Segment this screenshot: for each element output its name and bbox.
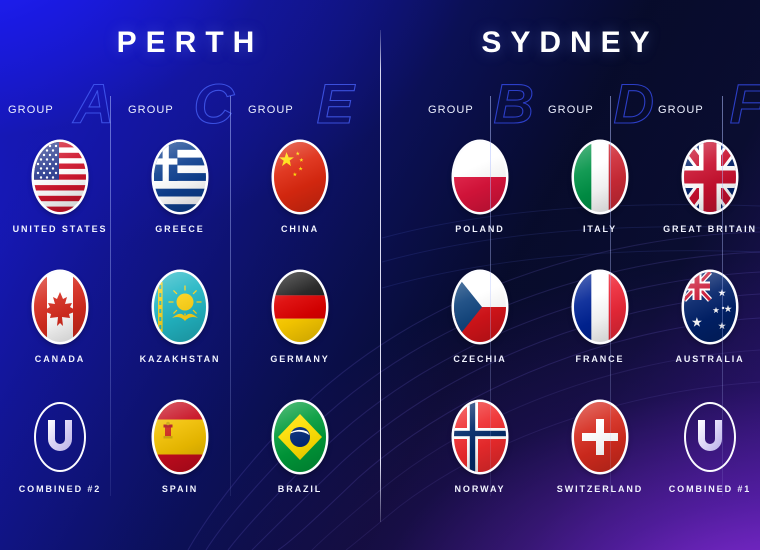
team-cell[interactable]: CANADA: [0, 272, 120, 392]
team-cell[interactable]: BRAZIL: [240, 402, 360, 522]
team-name: POLAND: [420, 224, 540, 234]
combined-placeholder-icon: [684, 402, 736, 472]
team-cell[interactable]: POLAND: [420, 142, 540, 262]
group-word-label: GROUP: [8, 104, 54, 116]
team-name: ITALY: [540, 224, 660, 234]
group-letter-e: E: [317, 76, 354, 132]
cz-flag: [454, 272, 506, 342]
team-cell[interactable]: SWITZERLAND: [540, 402, 660, 522]
team-name: SPAIN: [120, 484, 240, 494]
team-flag-oval: [454, 272, 506, 342]
team-cell[interactable]: NORWAY: [420, 402, 540, 522]
team-cell[interactable]: COMBINED #2: [0, 402, 120, 522]
us-flag: [34, 142, 86, 212]
ch-flag: [574, 402, 626, 472]
venue-divider: [380, 30, 381, 522]
br-flag: [274, 402, 326, 472]
au-flag: [684, 272, 736, 342]
group-header-d: GROUP D: [540, 92, 660, 138]
group-word-label: GROUP: [428, 104, 474, 116]
group-letter-d: D: [614, 76, 654, 132]
team-cell[interactable]: CHINA: [240, 142, 360, 262]
group-letter-f: F: [730, 76, 760, 132]
team-flag-oval: [274, 142, 326, 212]
team-name: GREECE: [120, 224, 240, 234]
group-letter-b: B: [494, 76, 534, 132]
team-flag-oval: [574, 142, 626, 212]
team-flag-oval: [274, 402, 326, 472]
group-word-label: GROUP: [248, 104, 294, 116]
team-flag-oval: [274, 272, 326, 342]
group-letter-a: A: [74, 76, 114, 132]
column-divider: [230, 96, 231, 496]
team-cell[interactable]: CZECHIA: [420, 272, 540, 392]
team-name: CZECHIA: [420, 354, 540, 364]
team-name: AUSTRALIA: [650, 354, 760, 364]
group-word-label: GROUP: [548, 104, 594, 116]
team-name: SWITZERLAND: [540, 484, 660, 494]
column-divider: [722, 96, 723, 496]
team-cell[interactable]: GREECE: [120, 142, 240, 262]
group-word-label: GROUP: [658, 104, 704, 116]
team-cell[interactable]: KAZAKHSTAN: [120, 272, 240, 392]
kz-flag: [154, 272, 206, 342]
team-flag-oval: [34, 272, 86, 342]
group-column-a: GROUP A: [0, 0, 120, 550]
column-divider: [110, 96, 111, 496]
it-flag: [574, 142, 626, 212]
group-header-e: GROUP E: [240, 92, 360, 138]
cn-flag: [274, 142, 326, 212]
combined-placeholder-icon: [34, 402, 86, 472]
team-cell[interactable]: COMBINED #1: [650, 402, 760, 522]
group-header-a: GROUP A: [0, 92, 120, 138]
team-name: NORWAY: [420, 484, 540, 494]
team-cell[interactable]: ITALY: [540, 142, 660, 262]
team-flag-oval: [454, 402, 506, 472]
team-flag-oval: [684, 142, 736, 212]
tournament-group-board: PERTH SYDNEY GROUP A: [0, 0, 760, 550]
de-flag: [274, 272, 326, 342]
team-name: UNITED STATES: [0, 224, 120, 234]
team-name: FRANCE: [540, 354, 660, 364]
group-column-b: GROUP B POLAND: [420, 0, 540, 550]
ca-flag: [34, 272, 86, 342]
group-header-b: GROUP B: [420, 92, 540, 138]
es-flag: [154, 402, 206, 472]
gb-flag: [684, 142, 736, 212]
group-letter-c: C: [194, 76, 234, 132]
team-flag-oval: [684, 402, 736, 472]
group-header-c: GROUP C: [120, 92, 240, 138]
team-cell[interactable]: UNITED STATES: [0, 142, 120, 262]
team-flag-oval: [454, 142, 506, 212]
team-name: CHINA: [240, 224, 360, 234]
team-flag-oval: [154, 142, 206, 212]
team-cell[interactable]: GERMANY: [240, 272, 360, 392]
team-name: COMBINED #1: [650, 484, 760, 494]
team-name: BRAZIL: [240, 484, 360, 494]
team-name: CANADA: [0, 354, 120, 364]
column-divider: [610, 96, 611, 496]
team-flag-oval: [34, 142, 86, 212]
team-name: KAZAKHSTAN: [120, 354, 240, 364]
team-flag-oval: [154, 402, 206, 472]
team-name: COMBINED #2: [0, 484, 120, 494]
team-cell[interactable]: GREAT BRITAIN: [650, 142, 760, 262]
column-divider: [490, 96, 491, 496]
gr-flag: [154, 142, 206, 212]
group-column-d: GROUP D ITALY: [540, 0, 660, 550]
group-column-e: GROUP E: [240, 0, 360, 550]
team-flag-oval: [574, 272, 626, 342]
team-cell[interactable]: FRANCE: [540, 272, 660, 392]
team-cell[interactable]: SPAIN: [120, 402, 240, 522]
group-column-f: GROUP F GREAT BRITAIN: [650, 0, 760, 550]
fr-flag: [574, 272, 626, 342]
group-word-label: GROUP: [128, 104, 174, 116]
team-cell[interactable]: AUSTRALIA: [650, 272, 760, 392]
team-flag-oval: [684, 272, 736, 342]
group-header-f: GROUP F: [650, 92, 760, 138]
team-name: GREAT BRITAIN: [650, 224, 760, 234]
team-flag-oval: [34, 402, 86, 472]
team-flag-oval: [574, 402, 626, 472]
team-flag-oval: [154, 272, 206, 342]
team-name: GERMANY: [240, 354, 360, 364]
no-flag: [454, 402, 506, 472]
pl-flag: [454, 142, 506, 212]
group-column-c: GROUP C: [120, 0, 240, 550]
